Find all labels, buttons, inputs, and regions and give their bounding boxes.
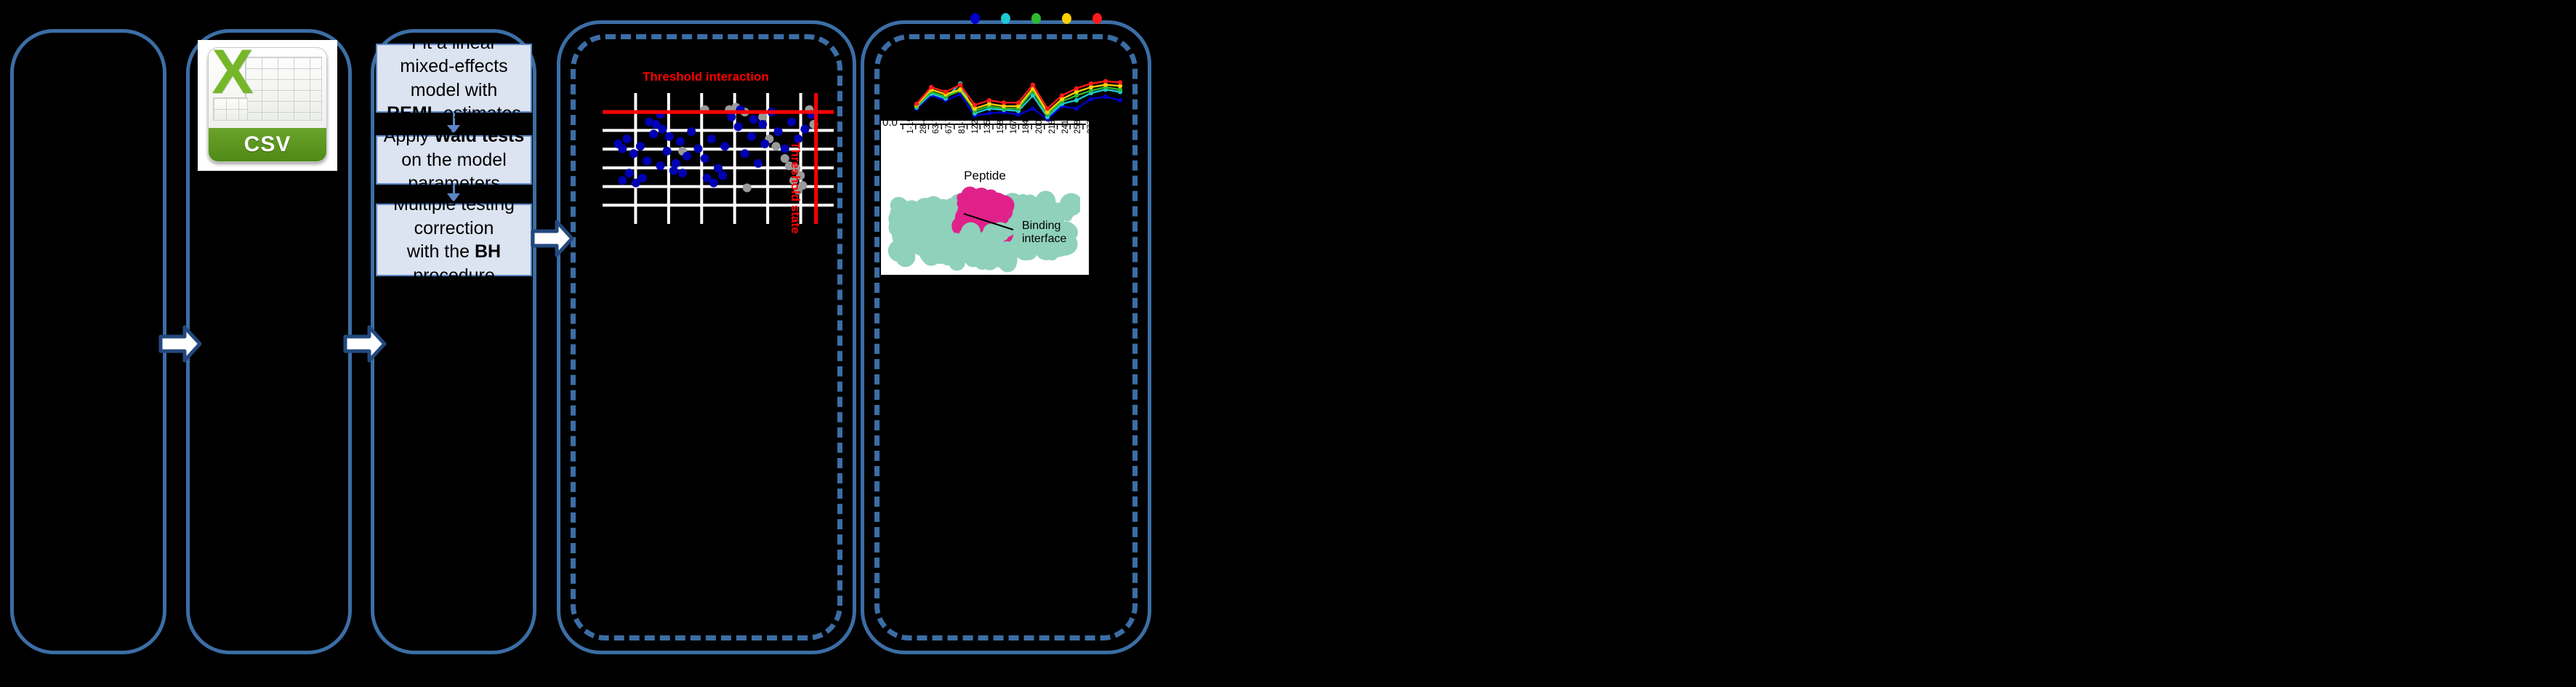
protein-structure-image: Binding interface bbox=[885, 185, 1080, 273]
legend-dot-1 bbox=[970, 13, 980, 24]
input-data-panel[interactable] bbox=[10, 29, 166, 654]
process-box-wald-text: Apply Wald tests on the model parameters bbox=[383, 124, 525, 196]
spreadsheet-grid-main bbox=[245, 57, 322, 121]
csv-file-icon[interactable]: X CSV bbox=[198, 40, 337, 171]
legend-dot-2 bbox=[1001, 13, 1010, 24]
process-box-bh-text: Multiple testing correctionwith the BH p… bbox=[383, 193, 525, 287]
arrow-input-to-csv bbox=[158, 324, 202, 364]
legend-dot-5 bbox=[1092, 13, 1102, 24]
arrow-csv-to-stats bbox=[343, 324, 387, 364]
binding-interface-label: Binding interface bbox=[1022, 220, 1084, 246]
csv-label-band: CSV bbox=[209, 128, 326, 161]
legend-dot-3 bbox=[1031, 13, 1041, 24]
process-box-reml-text: Fit a linear mixed-effects model with RE… bbox=[383, 31, 525, 126]
threshold-interaction-label: Threshold interaction bbox=[643, 70, 769, 84]
process-box-bh[interactable]: Multiple testing correctionwith the BH p… bbox=[376, 204, 532, 276]
csv-label: CSV bbox=[244, 132, 291, 157]
excel-x-icon: X bbox=[210, 47, 255, 99]
process-box-wald[interactable]: Apply Wald tests on the model parameters bbox=[376, 135, 532, 185]
legend-dot-4 bbox=[1062, 13, 1071, 24]
peptide-figure: 0.0 1-1528-4463-7367-7581-101122-129135-… bbox=[881, 121, 1089, 275]
process-box-reml[interactable]: Fit a linear mixed-effects model with RE… bbox=[376, 44, 532, 113]
peptide-x-axis-title: Peptide bbox=[881, 169, 1089, 183]
threshold-state-label: Threshold state bbox=[788, 142, 802, 234]
workflow-diagram: X CSV Fit a linear mixed-effects model w… bbox=[0, 0, 2576, 687]
arrow-stats-to-volcano bbox=[531, 218, 574, 259]
csv-card: X CSV bbox=[208, 47, 327, 162]
peptide-line-chart bbox=[903, 61, 1129, 131]
